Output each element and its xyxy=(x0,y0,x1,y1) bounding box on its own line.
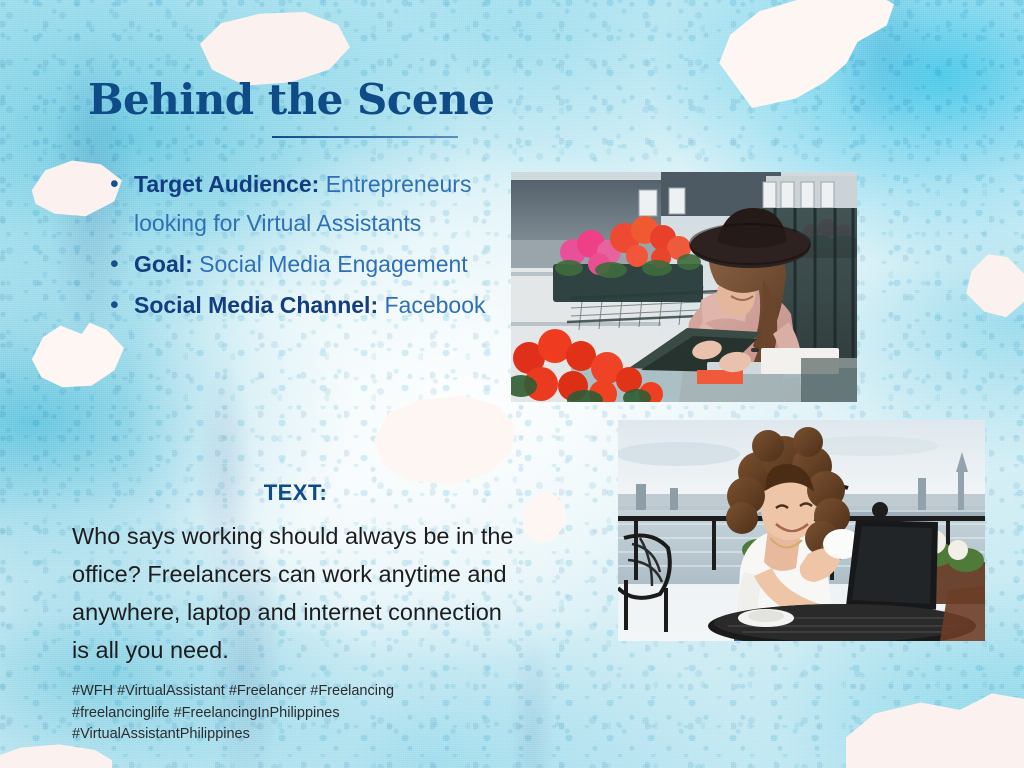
torn-paper-patch-bottom-left xyxy=(0,742,112,768)
photo-balcony-illustration xyxy=(511,172,857,402)
slide-canvas: Behind the Scene Target Audience: Entrep… xyxy=(0,0,1024,768)
bullet-value: Facebook xyxy=(385,292,486,318)
photo-riverside xyxy=(618,420,985,641)
bullet-label: Goal: xyxy=(134,251,193,277)
list-item: Social Media Channel: Facebook xyxy=(108,286,498,325)
page-title: Behind the Scene xyxy=(88,78,494,122)
torn-paper-patch-center-large xyxy=(368,396,516,488)
torn-paper-patch-bottom-right xyxy=(846,686,1024,768)
hashtag-line: #VirtualAssistantPhilippines xyxy=(72,724,502,746)
title-divider xyxy=(272,136,458,138)
list-item: Goal: Social Media Engagement xyxy=(108,245,498,284)
text-section-body: Who says working should always be in the… xyxy=(72,517,522,669)
hashtag-line: #WFH #VirtualAssistant #Freelancer #Free… xyxy=(72,681,502,703)
torn-paper-patch-center-small xyxy=(518,492,566,544)
text-section-label: TEXT: xyxy=(72,480,519,506)
photo-balcony xyxy=(511,172,857,402)
brief-bullet-list: Target Audience: Entrepreneurs looking f… xyxy=(108,165,498,327)
bullet-label: Social Media Channel: xyxy=(134,292,378,318)
bullet-value: Social Media Engagement xyxy=(199,251,468,277)
bullet-label: Target Audience: xyxy=(134,171,319,197)
torn-paper-patch-left-middle xyxy=(28,320,124,390)
hashtag-block: #WFH #VirtualAssistant #Freelancer #Free… xyxy=(72,681,502,746)
hashtag-line: #freelancinglife #FreelancingInPhilippin… xyxy=(72,703,502,725)
torn-paper-patch-right-edge xyxy=(960,250,1024,320)
list-item: Target Audience: Entrepreneurs looking f… xyxy=(108,165,498,243)
photo-riverside-illustration xyxy=(618,420,985,641)
torn-paper-patch-top-right xyxy=(712,0,894,108)
